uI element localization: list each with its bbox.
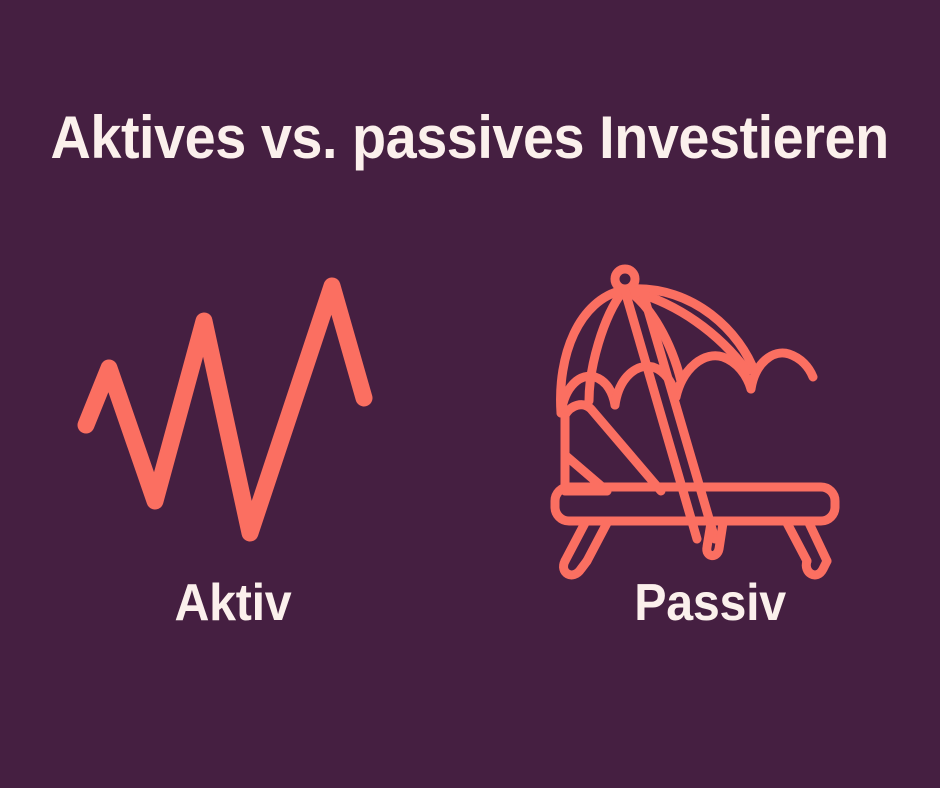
lounger-leg-left-a	[565, 523, 585, 561]
canopy-scallop-5	[751, 353, 813, 389]
panel-passive: Passiv	[470, 255, 940, 675]
lounger-foot-right	[806, 561, 827, 575]
lounger-leg-right-b	[809, 523, 827, 561]
panel-passive-label: Passiv	[635, 559, 787, 629]
page-title: Aktives vs. passives Investieren	[51, 108, 889, 168]
lounger-foot-left	[564, 561, 587, 575]
infographic-canvas: Aktives vs. passives Investieren Aktiv	[0, 0, 940, 788]
comparison-panels: Aktiv	[0, 255, 940, 675]
beach-lounger-umbrella-icon	[544, 255, 874, 555]
lounger-backrest-top	[565, 405, 661, 491]
panel-active-label: Aktiv	[175, 559, 292, 629]
page-title-container: Aktives vs. passives Investieren	[0, 108, 940, 168]
panel-active: Aktiv	[0, 255, 470, 675]
lounger-leg-right-a	[787, 523, 807, 561]
lounger-leg-left-b	[587, 523, 607, 561]
volatile-line-chart-icon	[64, 263, 394, 563]
